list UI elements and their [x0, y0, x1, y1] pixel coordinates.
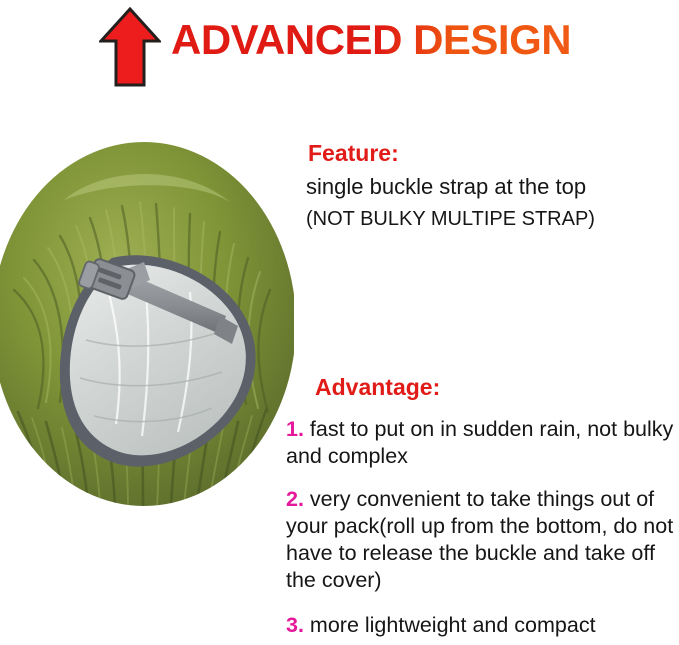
- advantage-list-item: 1. fast to put on in sudden rain, not bu…: [286, 416, 679, 470]
- advantage-section: Advantage: 1. fast to put on in sudden r…: [286, 372, 679, 639]
- advantage-item-text: very convenient to take things out of yo…: [286, 487, 673, 592]
- advantage-heading: Advantage:: [315, 372, 679, 402]
- advantage-item-number: 1.: [286, 417, 304, 441]
- header-banner: ADVANCED DESIGN: [0, 0, 679, 95]
- advantage-item-number: 2.: [286, 487, 304, 511]
- feature-heading: Feature:: [308, 138, 674, 168]
- feature-section: Feature: single buckle strap at the top …: [306, 138, 674, 234]
- product-feature-infographic: ADVANCED DESIGN: [0, 0, 679, 645]
- advantage-list-item: 2. very convenient to take things out of…: [286, 486, 679, 594]
- advantage-item-text: more lightweight and compact: [310, 613, 596, 637]
- arrow-up-icon: [99, 7, 161, 87]
- feature-line-primary: single buckle strap at the top: [306, 172, 674, 202]
- advantage-item-number: 3.: [286, 613, 304, 637]
- feature-line-secondary: (NOT BULKY MULTIPE STRAP): [306, 204, 674, 234]
- advantage-list-item: 3. more lightweight and compact: [286, 612, 679, 639]
- advantage-item-text: fast to put on in sudden rain, not bulky…: [286, 417, 673, 468]
- product-image-rain-cover: [0, 140, 294, 508]
- page-title: ADVANCED DESIGN: [171, 16, 571, 64]
